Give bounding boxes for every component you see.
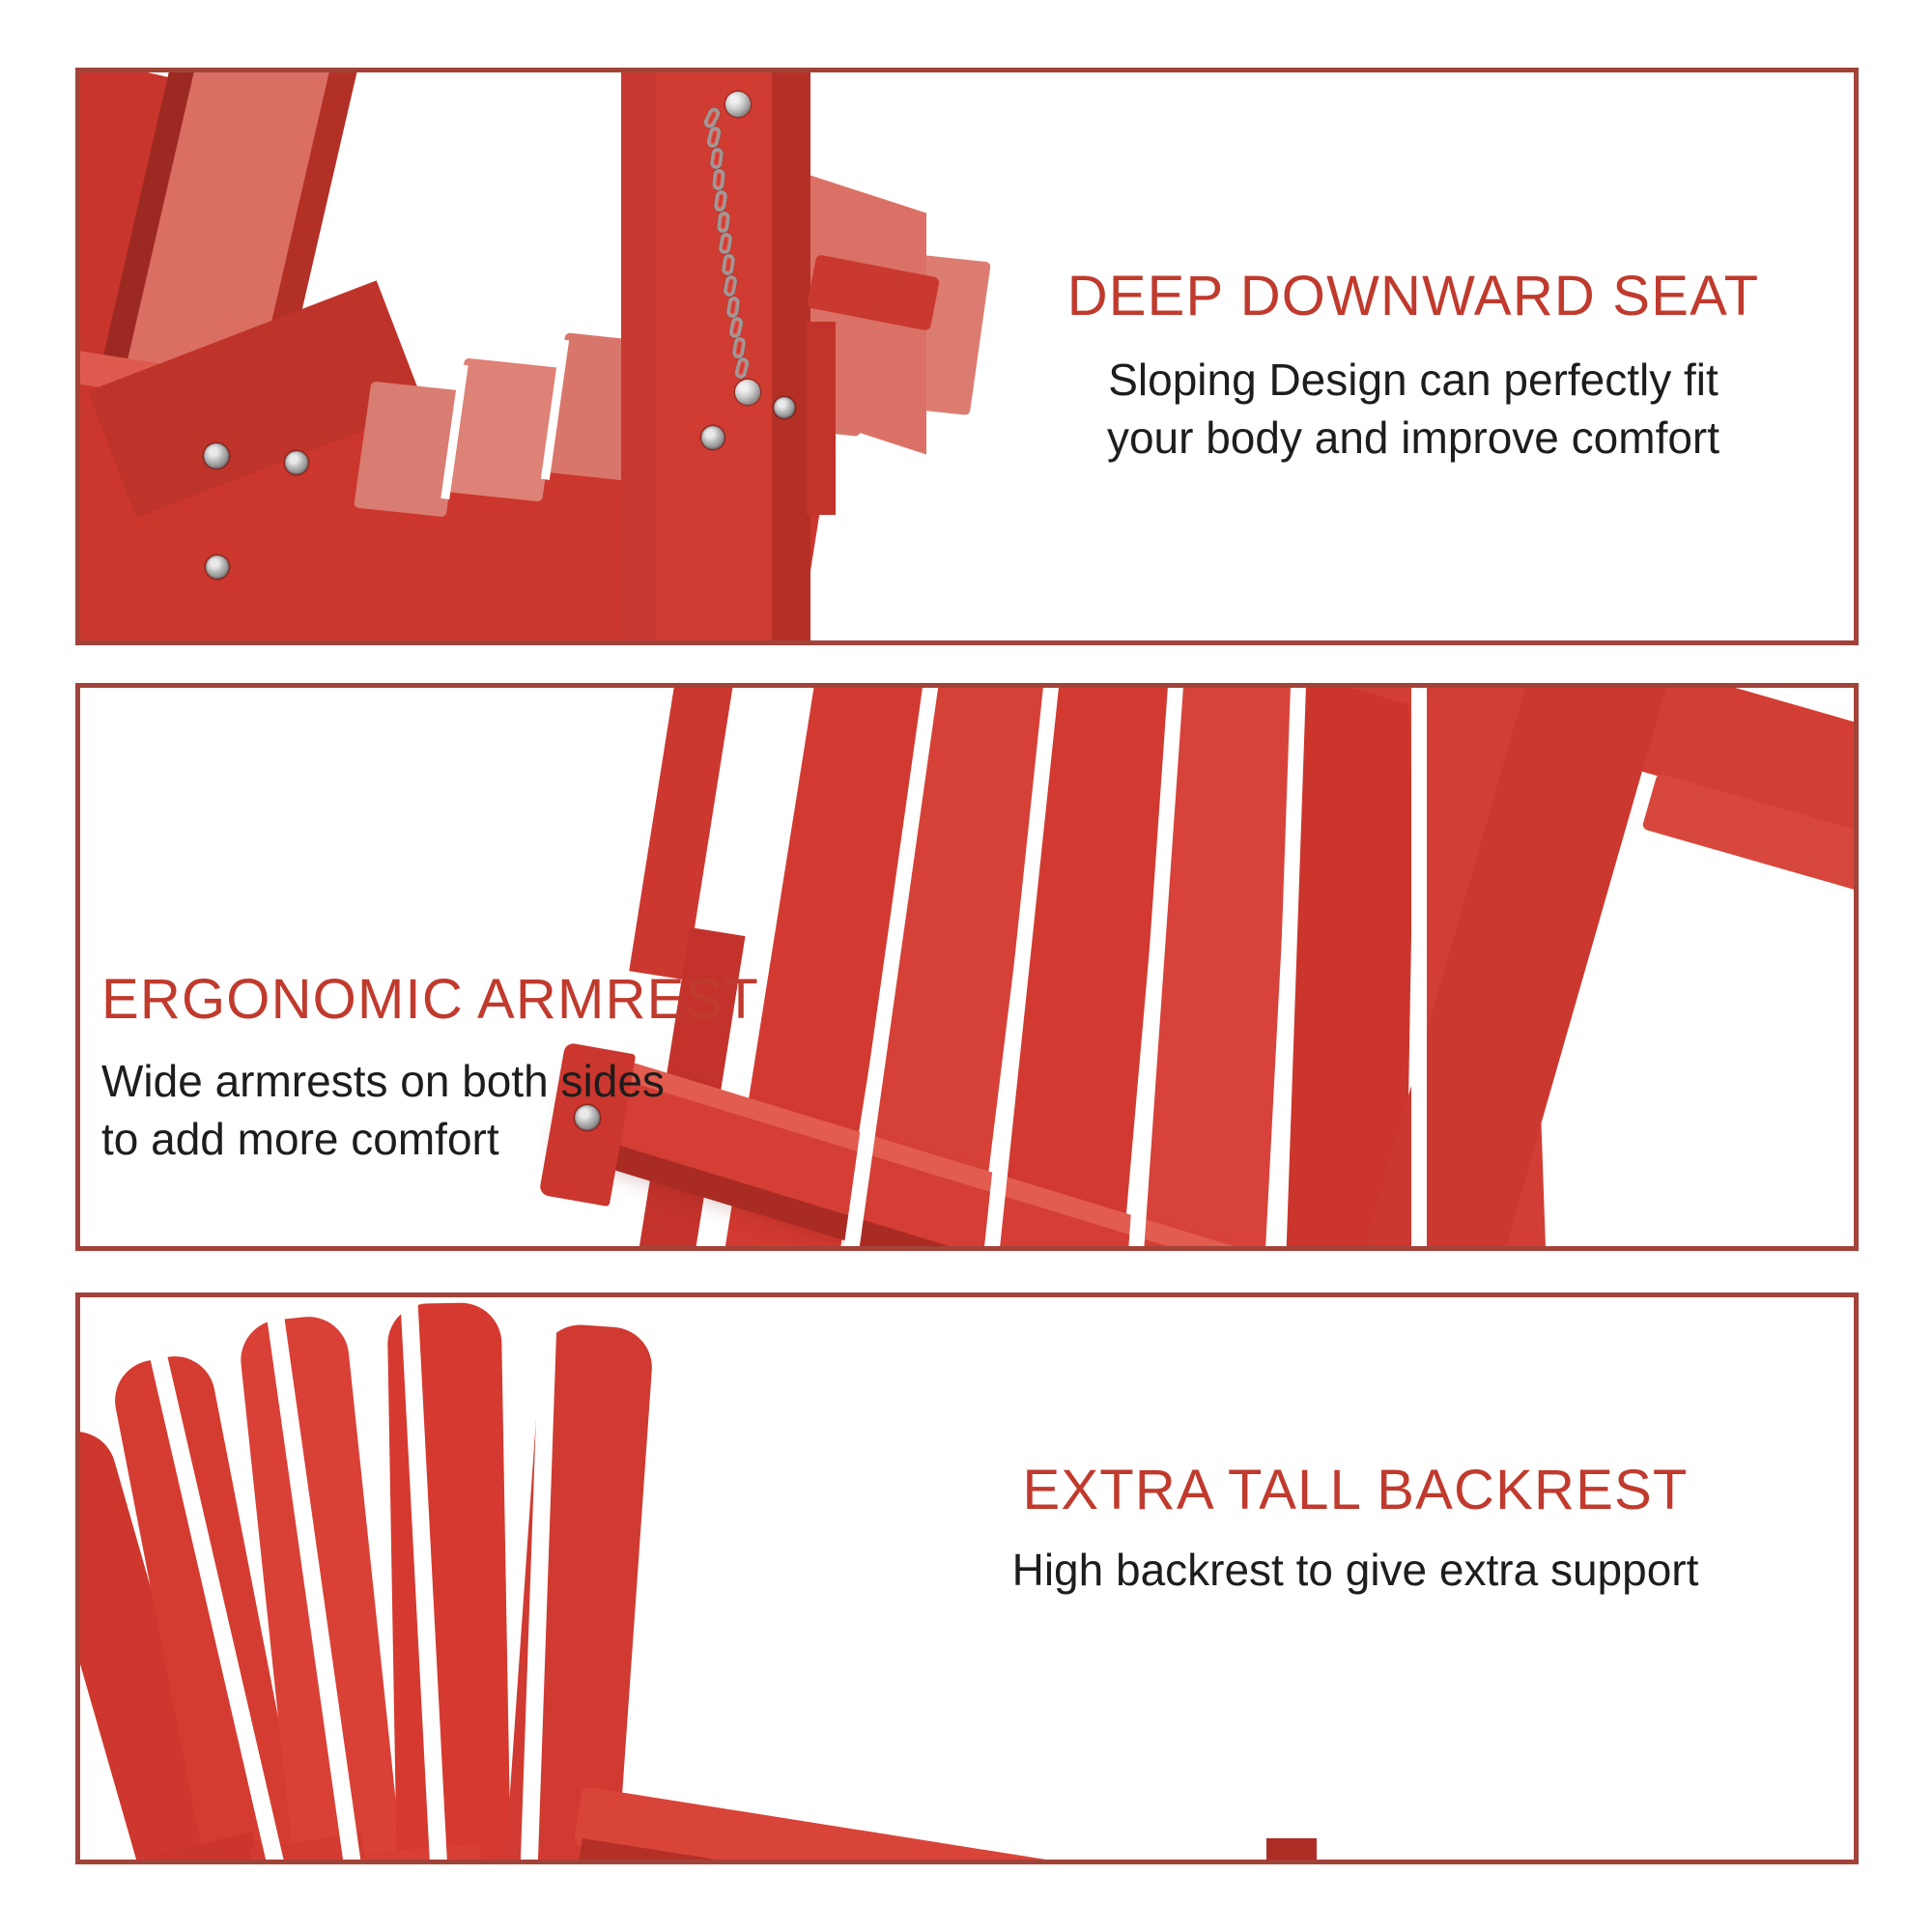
chair-side-rail bbox=[807, 322, 836, 515]
screw-icon bbox=[204, 443, 229, 469]
chain-anchor-bottom bbox=[735, 380, 760, 405]
chair-front-post-edge bbox=[772, 68, 810, 645]
backrest-slat-lower bbox=[570, 1862, 725, 1864]
feature-headline: DEEP DOWNWARD SEAT bbox=[988, 268, 1838, 327]
armrest-right bbox=[573, 1786, 1307, 1864]
feature-headline: EXTRA TALL BACKREST bbox=[930, 1462, 1780, 1520]
slat-gap bbox=[1411, 683, 1427, 1251]
feature-panel-ergonomic-armrest: ERGONOMIC ARMREST Wide armrests on both … bbox=[75, 683, 1859, 1251]
feature-headline: ERGONOMIC ARMREST bbox=[101, 971, 816, 1030]
feature-text-extra-tall-backrest: EXTRA TALL BACKREST High backrest to giv… bbox=[930, 1462, 1780, 1600]
feature-body-line: Sloping Design can perfectly fit bbox=[988, 352, 1838, 410]
screw-icon bbox=[774, 397, 795, 418]
feature-body-line: High backrest to give extra support bbox=[930, 1542, 1780, 1600]
chain-anchor-top bbox=[725, 92, 751, 117]
chair-front-leg-edge bbox=[1266, 1838, 1317, 1864]
feature-text-deep-downward-seat: DEEP DOWNWARD SEAT Sloping Design can pe… bbox=[988, 268, 1838, 467]
feature-panel-extra-tall-backrest: EXTRA TALL BACKREST High backrest to giv… bbox=[75, 1293, 1859, 1864]
chair-inner-post bbox=[621, 68, 656, 645]
feature-body-line: your body and improve comfort bbox=[988, 410, 1838, 468]
feature-body-line: Wide armrests on both sides bbox=[101, 1053, 816, 1111]
screw-icon bbox=[285, 451, 308, 474]
feature-body-line: to add more comfort bbox=[101, 1111, 816, 1169]
screw-icon bbox=[206, 555, 229, 579]
infographic-sheet: DEEP DOWNWARD SEAT Sloping Design can pe… bbox=[0, 0, 1932, 1932]
screw-icon bbox=[701, 426, 724, 449]
feature-panel-deep-downward-seat: DEEP DOWNWARD SEAT Sloping Design can pe… bbox=[75, 68, 1859, 645]
feature-text-ergonomic-armrest: ERGONOMIC ARMREST Wide armrests on both … bbox=[101, 683, 816, 1168]
backrest-slat bbox=[496, 1322, 655, 1864]
